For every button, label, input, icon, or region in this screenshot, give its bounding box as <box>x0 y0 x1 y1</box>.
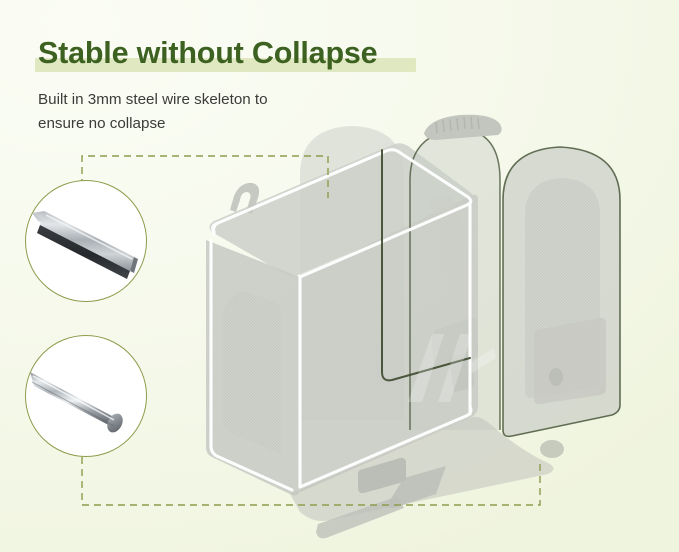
page-title: Stable without Collapse <box>38 33 377 73</box>
page-subtitle: Built in 3mm steel wire skeleton to ensu… <box>38 88 368 136</box>
page-title-wrapper: Stable without Collapse <box>38 33 377 73</box>
subtitle-line-1: Built in 3mm steel wire skeleton to <box>38 91 268 108</box>
top-handle <box>424 115 502 140</box>
marketing-image: Stable without Collapse Built in 3mm ste… <box>0 0 679 552</box>
inset-flat-steel-bar <box>25 180 147 302</box>
callout-bracket-bottom <box>80 455 542 510</box>
inset-round-steel-rod <box>25 335 147 457</box>
round-rod-shape <box>30 372 126 435</box>
subtitle-line-2: ensure no collapse <box>38 115 166 132</box>
flat-bar-shape <box>32 211 138 279</box>
